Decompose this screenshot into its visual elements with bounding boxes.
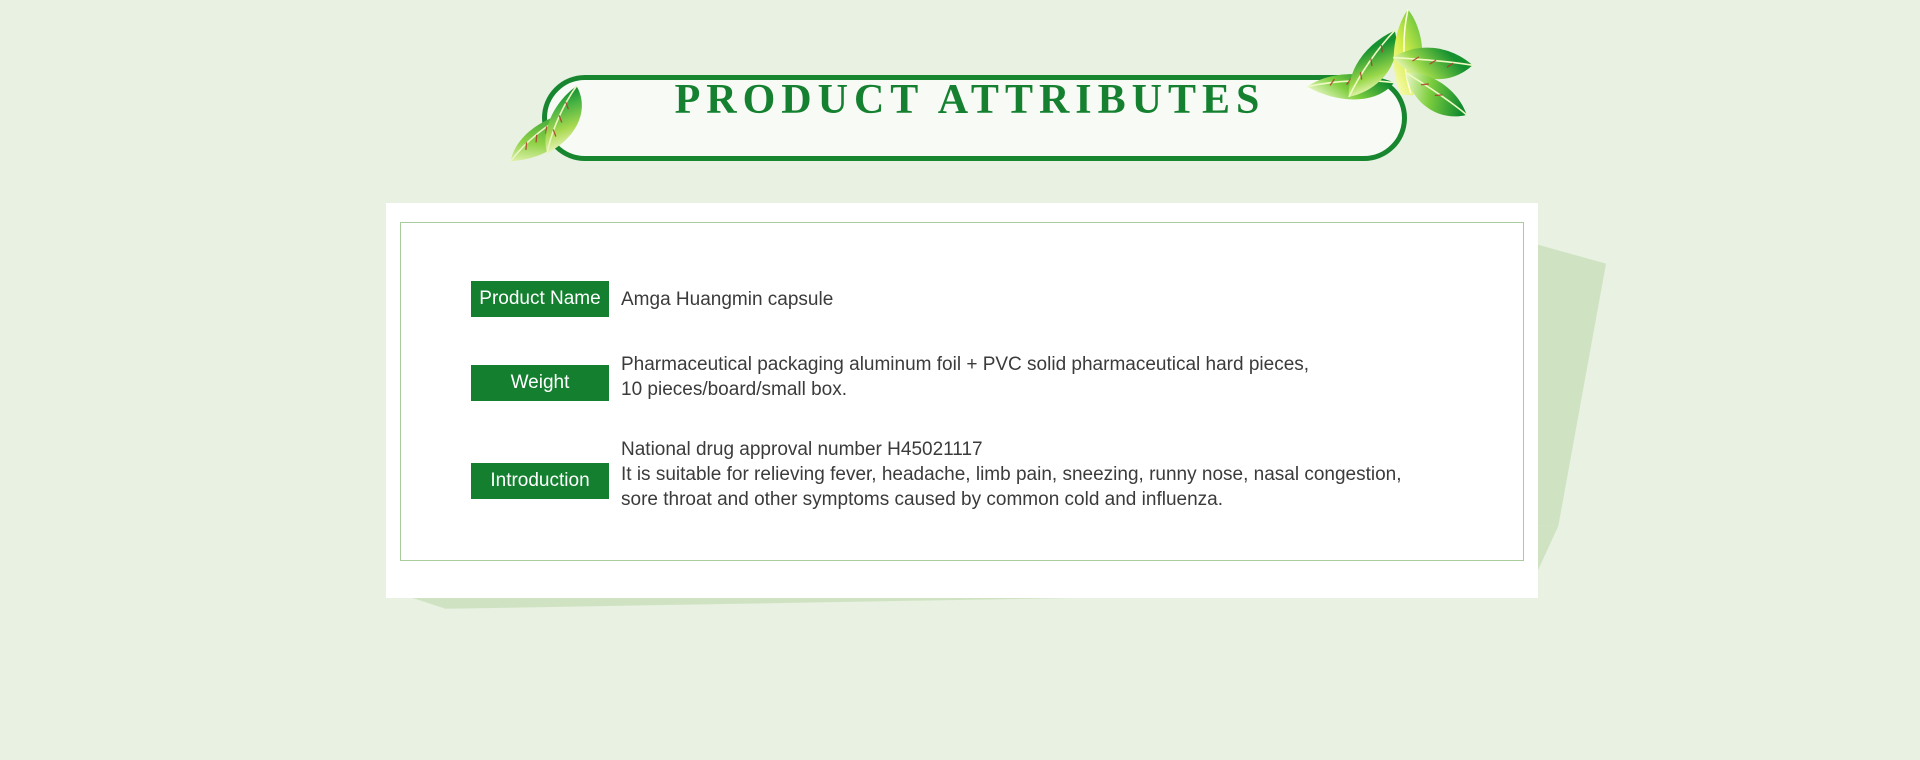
attribute-value-line: 10 pieces/board/small box. xyxy=(621,377,1309,402)
attribute-label-product-name: Product Name xyxy=(471,281,609,317)
attribute-list: Product Name Amga Huangmin capsule Weigh… xyxy=(471,281,1481,512)
attribute-label-introduction: Introduction xyxy=(471,463,609,499)
attribute-value-weight: Pharmaceutical packaging aluminum foil +… xyxy=(621,352,1309,402)
title-banner: PRODUCT ATTRIBUTES xyxy=(530,20,1410,180)
attribute-value-line: Pharmaceutical packaging aluminum foil +… xyxy=(621,352,1309,377)
card-inner-border: Product Name Amga Huangmin capsule Weigh… xyxy=(400,222,1524,561)
attribute-value-line: sore throat and other symptoms caused by… xyxy=(621,487,1402,512)
attribute-value-line: Amga Huangmin capsule xyxy=(621,287,833,312)
card-surface: Product Name Amga Huangmin capsule Weigh… xyxy=(386,203,1538,598)
attribute-row-weight: Weight Pharmaceutical packaging aluminum… xyxy=(471,352,1481,402)
attribute-value-line: National drug approval number H45021117 xyxy=(621,437,1402,462)
attribute-value-line: It is suitable for relieving fever, head… xyxy=(621,462,1402,487)
product-attributes-card: Product Name Amga Huangmin capsule Weigh… xyxy=(386,203,1616,653)
attribute-label-weight: Weight xyxy=(471,365,609,401)
attribute-row-introduction: Introduction National drug approval numb… xyxy=(471,437,1481,512)
attribute-value-product-name: Amga Huangmin capsule xyxy=(621,287,833,312)
page-title: PRODUCT ATTRIBUTES xyxy=(530,20,1410,180)
attribute-value-introduction: National drug approval number H45021117 … xyxy=(621,437,1402,512)
attribute-row-product-name: Product Name Amga Huangmin capsule xyxy=(471,281,1481,317)
